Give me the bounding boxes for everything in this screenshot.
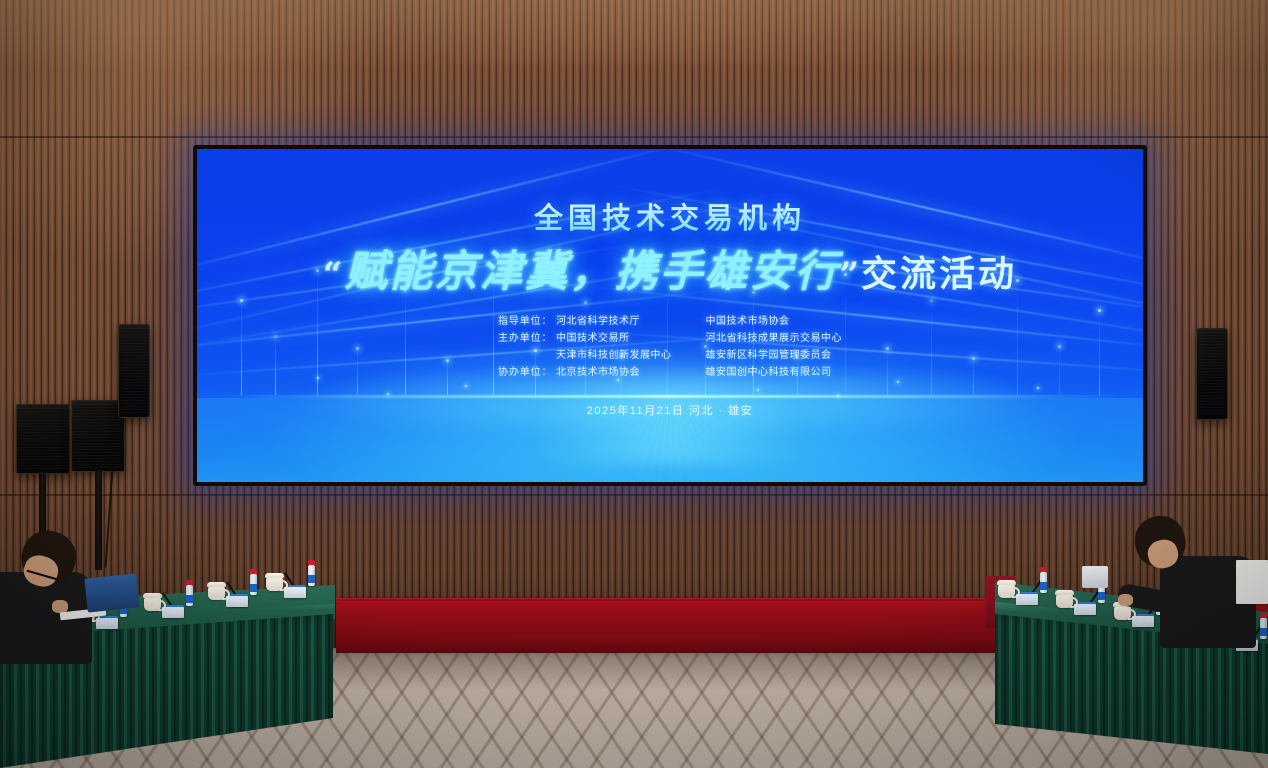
laptop bbox=[84, 573, 139, 612]
organizer-row: 指导单位：河北省科学技术厅 bbox=[498, 315, 672, 328]
organizer-column-right: 中国技术市场协会河北省科技成果展示交易中心雄安新区科学园管理委员会雄安国创中心科… bbox=[706, 315, 843, 379]
led-screen: 全国技术交易机构 “赋能京津冀，携手雄安行”交流活动 指导单位：河北省科学技术厅… bbox=[197, 149, 1143, 482]
organizer-row: 协办单位：北京技术市场协会 bbox=[498, 366, 672, 379]
organizer-name: 北京技术市场协会 bbox=[556, 366, 640, 379]
nameplate bbox=[1132, 616, 1154, 627]
quote-close: ” bbox=[839, 255, 861, 295]
coffee-mug bbox=[1056, 594, 1073, 608]
spark bbox=[387, 393, 389, 395]
nameplate bbox=[96, 618, 118, 629]
nameplate bbox=[284, 587, 306, 598]
coffee-mug bbox=[1114, 606, 1131, 620]
beam-tip bbox=[930, 299, 933, 302]
organizer-name: 雄安国创中心科技有限公司 bbox=[706, 366, 832, 379]
quote-open: “ bbox=[323, 255, 345, 295]
organizer-row: 中国技术市场协会 bbox=[706, 315, 843, 328]
bottle-cap bbox=[250, 569, 257, 574]
organizer-row: 雄安新区科学园管理委员会 bbox=[706, 349, 843, 362]
organizer-row: 主办单位：中国技术交易所 bbox=[498, 332, 672, 345]
organizer-name: 河北省科学技术厅 bbox=[556, 315, 640, 328]
bottle-cap bbox=[1040, 567, 1047, 572]
mug-lid bbox=[207, 582, 226, 587]
speaker-grill-icon bbox=[75, 404, 121, 468]
bottle-label bbox=[250, 584, 257, 592]
nameplate bbox=[226, 596, 248, 607]
laptop bbox=[1082, 566, 1108, 588]
bottle-cap bbox=[1260, 613, 1267, 618]
spark bbox=[465, 385, 467, 387]
organizer-column-left: 指导单位：河北省科学技术厅主办单位：中国技术交易所主办单位：天津市科技创新发展中… bbox=[498, 315, 672, 379]
spark bbox=[617, 379, 619, 381]
mug-lid bbox=[1055, 590, 1074, 595]
organizer-label: 指导单位： bbox=[498, 315, 552, 328]
beam-tip bbox=[240, 299, 243, 302]
coffee-mug bbox=[998, 584, 1015, 598]
papers bbox=[1236, 560, 1268, 604]
organizer-label: 主办单位： bbox=[498, 332, 552, 345]
speaker-grill-icon bbox=[1200, 332, 1224, 416]
beam-tip bbox=[1098, 309, 1101, 312]
loudspeaker-cabinet bbox=[16, 404, 70, 474]
beam-tip bbox=[584, 301, 587, 304]
spark bbox=[837, 395, 839, 397]
spark bbox=[1037, 387, 1039, 389]
organizer-name: 中国技术交易所 bbox=[556, 332, 630, 345]
speaker-grill-icon bbox=[122, 328, 146, 414]
coffee-mug bbox=[144, 597, 161, 611]
column-speaker-left bbox=[118, 324, 150, 418]
bottle-label bbox=[308, 575, 315, 583]
wall-seam bbox=[0, 136, 1268, 138]
organizer-name: 中国技术市场协会 bbox=[706, 315, 790, 328]
spark bbox=[897, 381, 899, 383]
speaker-grill-icon bbox=[20, 408, 66, 470]
organizer-block: 指导单位：河北省科学技术厅主办单位：中国技术交易所主办单位：天津市科技创新发展中… bbox=[197, 315, 1143, 379]
organizer-label: 协办单位： bbox=[498, 366, 552, 379]
organizer-name: 雄安新区科学园管理委员会 bbox=[706, 349, 832, 362]
organizer-row: 雄安国创中心科技有限公司 bbox=[706, 366, 843, 379]
nameplate bbox=[1074, 604, 1096, 615]
loudspeaker-cabinet bbox=[71, 400, 125, 472]
bottle-label bbox=[1260, 628, 1267, 636]
organizer-name: 天津市科技创新发展中心 bbox=[556, 349, 672, 362]
organizer-row: 河北省科技成果展示交易中心 bbox=[706, 332, 843, 345]
coffee-mug bbox=[266, 577, 283, 591]
screen-title-line1: 全国技术交易机构 bbox=[197, 195, 1143, 237]
screen-title-line2: “赋能京津冀，携手雄安行”交流活动 bbox=[197, 237, 1143, 299]
nameplate bbox=[162, 607, 184, 618]
bottle-label bbox=[186, 595, 193, 603]
organizer-row: 主办单位：天津市科技创新发展中心 bbox=[498, 349, 672, 362]
column-speaker-right bbox=[1196, 328, 1228, 420]
coffee-mug bbox=[208, 586, 225, 600]
speaker-stand bbox=[95, 470, 102, 570]
bottle-label bbox=[1040, 582, 1047, 590]
screen-title-line2-tail: 交流活动 bbox=[861, 253, 1017, 294]
bottle-label bbox=[1098, 592, 1105, 600]
organizer-name: 河北省科技成果展示交易中心 bbox=[706, 332, 843, 345]
bottle-cap bbox=[308, 560, 315, 565]
mug-lid bbox=[143, 593, 162, 598]
screen-title-line2-main: 赋能京津冀，携手雄安行 bbox=[344, 247, 839, 297]
spark bbox=[757, 389, 759, 391]
nameplate bbox=[1016, 594, 1038, 605]
mug-lid bbox=[265, 573, 284, 578]
conference-hall-photo: 全国技术交易机构 “赋能京津冀，携手雄安行”交流活动 指导单位：河北省科学技术厅… bbox=[0, 0, 1268, 768]
mug-lid bbox=[997, 580, 1016, 585]
wall-seam bbox=[0, 494, 1268, 496]
screen-date-location: 2025年11月21日 河北 · 雄安 bbox=[197, 402, 1143, 418]
bottle-cap bbox=[186, 580, 193, 585]
